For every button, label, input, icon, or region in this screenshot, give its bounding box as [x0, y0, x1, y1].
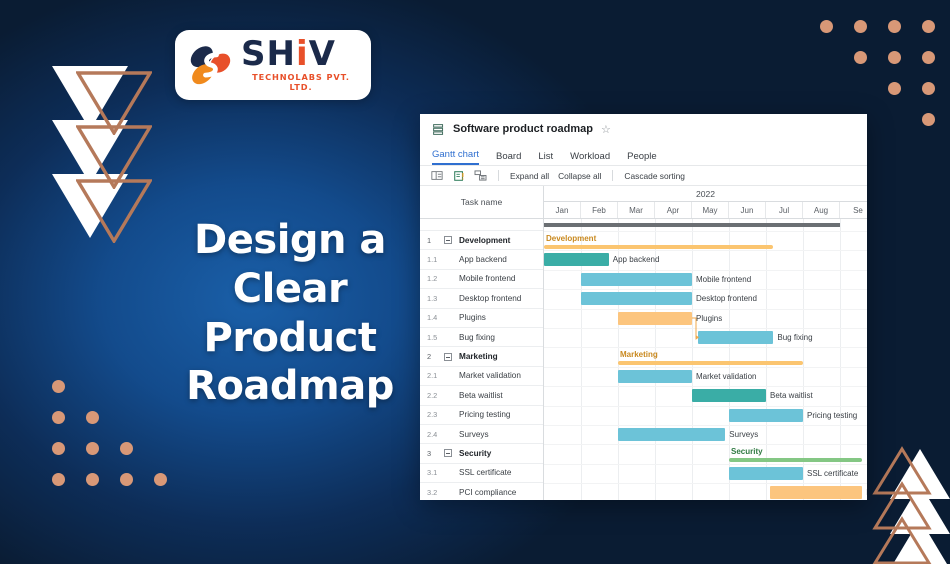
task-index: 2.4 [427, 430, 444, 439]
brand-logo: SHiV TECHNOLABS PVT. LTD. [175, 30, 371, 100]
headline-line-3: Product [170, 314, 410, 363]
dot [922, 82, 935, 95]
dot [922, 113, 935, 126]
month-cell-jul: Jul [766, 202, 803, 218]
group-structure-icon[interactable] [474, 170, 487, 182]
dependency-arrow [686, 316, 706, 343]
group-bar-label: Security [731, 447, 763, 456]
task-index: 3 [427, 449, 444, 458]
tab-bar: Gantt chart Board List Workload People [420, 144, 867, 166]
tab-board[interactable]: Board [496, 151, 521, 165]
timeline-pane: 2022 JanFebMarAprMayJunJulAugSe Developm… [544, 186, 867, 500]
grid-hline [544, 367, 867, 368]
task-bar-label: App backend [613, 255, 660, 264]
task-row[interactable]: 2.2Beta waitlist [420, 386, 543, 405]
tab-workload[interactable]: Workload [570, 151, 610, 165]
timeline-grid: DevelopmentApp backendMobile frontendDes… [544, 219, 867, 500]
grid-hline [544, 231, 867, 232]
gantt-chart: Task name 1Development1.1App backend1.2M… [420, 186, 867, 500]
task-name-label: Surveys [459, 430, 489, 439]
task-bar-label: Mobile frontend [696, 275, 751, 284]
task-bar-label: PCI [866, 488, 867, 497]
task-row[interactable]: 1.3Desktop frontend [420, 289, 543, 308]
task-index: 1.4 [427, 313, 444, 322]
task-index: 2.2 [427, 391, 444, 400]
task-row[interactable]: 2.1Market validation [420, 367, 543, 386]
grid-vline [692, 219, 693, 500]
task-bar[interactable] [581, 273, 692, 286]
task-row[interactable]: 1Development [420, 231, 543, 250]
task-row[interactable]: 3.1SSL certificate [420, 464, 543, 483]
cascade-sorting-button[interactable]: Cascade sorting [624, 171, 685, 181]
task-index: 1.1 [427, 255, 444, 264]
stacked-list-icon [432, 123, 445, 136]
collapse-toggle-icon[interactable] [444, 353, 452, 361]
logo-subtitle: TECHNOLABS PVT. LTD. [241, 72, 361, 92]
task-bar[interactable] [618, 312, 692, 325]
dot [86, 473, 99, 486]
task-row[interactable]: 1.1App backend [420, 250, 543, 269]
month-cell-jun: Jun [729, 202, 766, 218]
task-index: 3.2 [427, 488, 444, 497]
task-name-label: Plugins [459, 313, 486, 322]
dot [922, 20, 935, 33]
task-bar[interactable] [770, 486, 863, 499]
dot [120, 442, 133, 455]
toolbar-divider [612, 170, 613, 181]
task-bar[interactable] [544, 253, 609, 266]
task-bar[interactable] [698, 331, 774, 344]
dot [52, 411, 65, 424]
task-row[interactable]: 1.4Plugins [420, 309, 543, 328]
task-list-icon[interactable] [452, 170, 465, 182]
task-bar-label: Desktop frontend [696, 294, 757, 303]
task-index: 2.3 [427, 410, 444, 419]
task-row[interactable]: 2.3Pricing testing [420, 406, 543, 425]
task-bar[interactable] [618, 428, 725, 441]
dot [52, 442, 65, 455]
timeline-year: 2022 [544, 186, 867, 202]
task-name-label: Marketing [459, 352, 498, 361]
task-name-label: Development [459, 236, 510, 245]
task-index: 1.3 [427, 294, 444, 303]
task-row[interactable]: 1.2Mobile frontend [420, 270, 543, 289]
dot [922, 51, 935, 64]
grid-hline [544, 347, 867, 348]
tab-people[interactable]: People [627, 151, 657, 165]
task-name-column-header: Task name [420, 186, 543, 219]
task-name-label: Beta waitlist [459, 391, 503, 400]
group-bar[interactable] [544, 245, 773, 249]
task-name-label: Pricing testing [459, 410, 510, 419]
task-bar-label: Market validation [696, 372, 756, 381]
task-list-spacer [420, 219, 543, 231]
month-cell-se: Se [840, 202, 867, 218]
task-name-label: Desktop frontend [459, 294, 521, 303]
decor-triangles-left [52, 60, 162, 245]
task-bar-label: Pricing testing [807, 411, 857, 420]
task-bar[interactable] [729, 467, 803, 480]
decor-dots-bottom-left [52, 380, 182, 495]
task-index: 2 [427, 352, 444, 361]
dot [52, 380, 65, 393]
triangle-outline-down-3 [76, 179, 152, 243]
dot [86, 411, 99, 424]
month-cell-aug: Aug [803, 202, 840, 218]
group-bar[interactable] [618, 361, 803, 365]
task-bar[interactable] [581, 292, 692, 305]
poster-canvas: SHiV TECHNOLABS PVT. LTD. Design a Clear… [0, 0, 950, 564]
group-bar-label: Marketing [620, 350, 658, 359]
dot [154, 473, 167, 486]
toolbar-divider [498, 170, 499, 181]
grid-hline [544, 444, 867, 445]
app-title: Software product roadmap [453, 123, 593, 135]
logo-word: SHiV [241, 38, 361, 70]
task-row[interactable]: 3Security [420, 444, 543, 463]
task-row[interactable]: 1.5Bug fixing [420, 328, 543, 347]
task-name-label: Market validation [459, 371, 521, 380]
task-row[interactable]: 2Marketing [420, 347, 543, 366]
task-index: 1.2 [427, 274, 444, 283]
collapse-all-button[interactable]: Collapse all [558, 171, 601, 181]
headline-line-4: Roadmap [170, 362, 410, 411]
columns-toggle-icon[interactable] [430, 170, 443, 182]
group-bar[interactable] [729, 458, 862, 462]
dot [888, 82, 901, 95]
group-bar-label: Development [546, 234, 596, 243]
dot [854, 51, 867, 64]
task-row[interactable]: 2.4Surveys [420, 425, 543, 444]
timeline-months: JanFebMarAprMayJunJulAugSe [544, 202, 867, 219]
shiv-s-mark-icon [185, 42, 237, 88]
gantt-app-window: Software product roadmap ☆ Gantt chart B… [420, 114, 867, 500]
task-name-label: App backend [459, 255, 507, 264]
task-bar[interactable] [618, 370, 692, 383]
month-cell-may: May [692, 202, 729, 218]
page-title: Design a Clear Product Roadmap [170, 216, 410, 411]
task-list-pane: Task name 1Development1.1App backend1.2M… [420, 186, 544, 500]
task-bar-label: Surveys [729, 430, 758, 439]
grid-hline [544, 483, 867, 484]
task-name-label: Bug fixing [459, 333, 495, 342]
grid-hline [544, 289, 867, 290]
grid-hline [544, 309, 867, 310]
tab-gantt-chart[interactable]: Gantt chart [432, 149, 479, 165]
task-index: 3.1 [427, 468, 444, 477]
task-index: 1.5 [427, 333, 444, 342]
month-cell-apr: Apr [655, 202, 692, 218]
task-rows: 1Development1.1App backend1.2Mobile fron… [420, 231, 543, 500]
collapse-toggle-icon[interactable] [444, 236, 452, 244]
task-index: 2.1 [427, 371, 444, 380]
task-bar[interactable] [692, 389, 766, 402]
task-name-label: Security [459, 449, 491, 458]
toolbar: Expand all Collapse all Cascade sorting [420, 166, 867, 186]
grid-hline [544, 386, 867, 387]
grid-hline [544, 464, 867, 465]
headline-line-2: Clear [170, 265, 410, 314]
decor-triangles-bottom-right [872, 445, 950, 564]
app-title-bar: Software product roadmap ☆ [420, 114, 867, 144]
star-icon[interactable]: ☆ [601, 123, 611, 136]
month-cell-mar: Mar [618, 202, 655, 218]
project-summary-bar[interactable] [544, 223, 840, 227]
logo-wordmark: SHiV TECHNOLABS PVT. LTD. [241, 38, 361, 92]
triangle-outline-up-3 [872, 516, 932, 564]
collapse-toggle-icon[interactable] [444, 449, 452, 457]
task-bar-label: Beta waitlist [770, 391, 813, 400]
dot [854, 20, 867, 33]
dot [888, 51, 901, 64]
dot [888, 20, 901, 33]
month-cell-jan: Jan [544, 202, 581, 218]
tab-list[interactable]: List [538, 151, 553, 165]
dot [820, 20, 833, 33]
task-row[interactable]: 3.2PCI compliance [420, 483, 543, 500]
grid-hline [544, 425, 867, 426]
task-bar[interactable] [729, 409, 803, 422]
grid-hline [544, 270, 867, 271]
task-name-label: PCI compliance [459, 488, 516, 497]
dot [52, 473, 65, 486]
dot [120, 473, 133, 486]
task-name-label: Mobile frontend [459, 274, 515, 283]
headline-line-1: Design a [170, 216, 410, 265]
grid-hline [544, 406, 867, 407]
dot [86, 442, 99, 455]
grid-hline [544, 250, 867, 251]
task-bar-label: SSL certificate [807, 469, 858, 478]
expand-all-button[interactable]: Expand all [510, 171, 549, 181]
month-cell-feb: Feb [581, 202, 618, 218]
task-index: 1 [427, 236, 444, 245]
task-name-label: SSL certificate [459, 468, 511, 477]
task-bar-label: Bug fixing [777, 333, 812, 342]
